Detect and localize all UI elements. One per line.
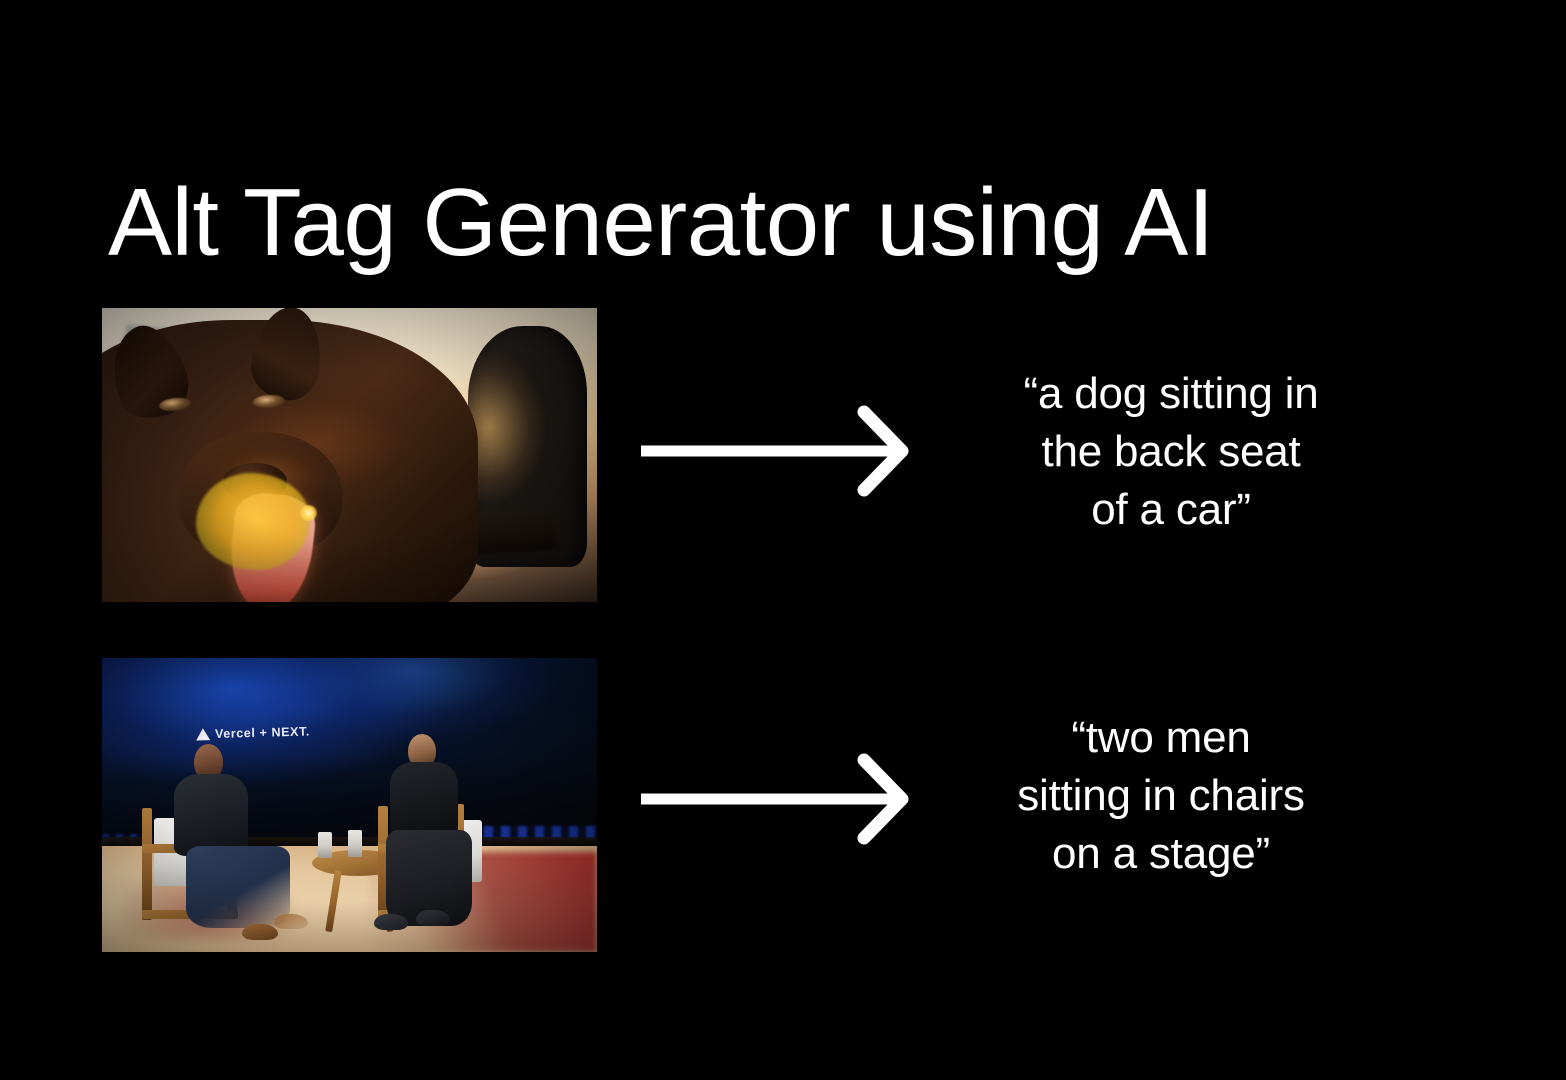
- arrow-right-icon: [636, 398, 911, 498]
- photo-vignette: [102, 658, 597, 952]
- alt-text-caption: “a dog sitting in the back seat of a car…: [965, 365, 1377, 539]
- arrow-right-icon: [636, 746, 911, 846]
- dog-in-car-photo: [102, 308, 597, 602]
- slide: Alt Tag Generator using AI: [0, 0, 1566, 1080]
- alt-text-caption: “two men sitting in chairs on a stage”: [955, 709, 1367, 883]
- photo-vignette: [102, 308, 597, 602]
- page-title: Alt Tag Generator using AI: [108, 168, 1214, 278]
- conference-stage-photo: Vercel + NEXT.: [102, 658, 597, 952]
